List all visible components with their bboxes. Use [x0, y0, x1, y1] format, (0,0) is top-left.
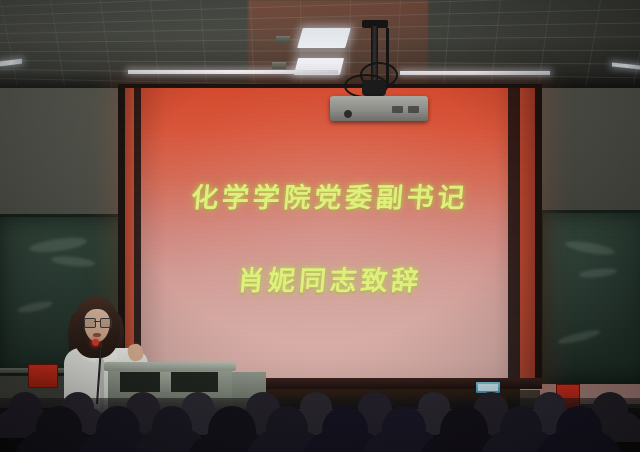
slide-title-line-1: 化学学院党委副书记 — [123, 176, 536, 215]
audience-head — [152, 406, 192, 444]
lecture-hall-photo: 化学学院党委副书记 肖妮同志致辞 — [0, 0, 640, 452]
projector-lens — [344, 110, 352, 118]
speaker-mouth — [93, 333, 101, 337]
ceiling-vent — [276, 36, 290, 43]
eyeglasses-icon — [84, 318, 110, 326]
fire-equipment-box-left — [28, 364, 58, 388]
audience-head — [208, 406, 256, 450]
chalkboard-right — [540, 210, 640, 384]
audience-head — [266, 406, 308, 446]
slide-title-line-2: 肖妮同志致辞 — [123, 259, 536, 298]
audience-head — [96, 406, 140, 448]
audience-head — [440, 406, 488, 450]
audience-head — [500, 406, 542, 446]
screen-lighting-falloff — [125, 88, 535, 383]
microphone-led-icon — [92, 339, 99, 346]
lectern-top — [104, 362, 236, 371]
audience-head — [382, 406, 426, 446]
audience-head — [322, 406, 368, 448]
lectern-divider — [160, 372, 171, 392]
audience-head — [36, 406, 82, 446]
projector-vent — [392, 106, 403, 113]
ceiling-light-panel — [297, 28, 351, 48]
audience-head — [608, 406, 640, 444]
projector-vent — [408, 106, 419, 113]
audience-head — [8, 392, 42, 420]
ceiling-vent — [272, 62, 286, 69]
projector-mount-knuckle — [362, 80, 386, 96]
